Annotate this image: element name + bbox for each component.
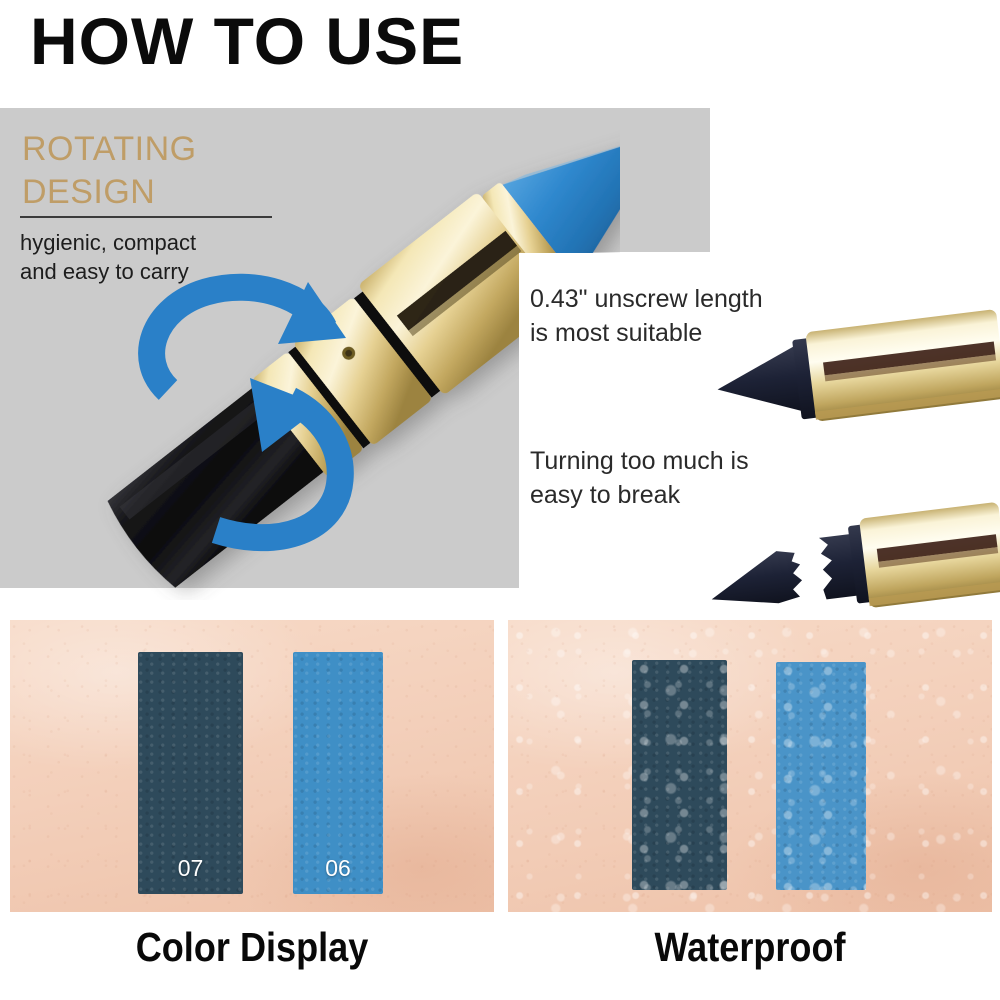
rotating-design-subtext-line1: hygienic, compact xyxy=(20,230,196,255)
swatch-droplets xyxy=(632,660,727,890)
intact-pencil-icon xyxy=(700,300,1000,435)
broken-tip-fragment xyxy=(707,548,805,611)
hero-panel-background-bottom xyxy=(0,251,519,588)
page-title: HOW TO USE xyxy=(30,8,464,74)
infographic-page: HOW TO USE ROTATING DESIGN hygienic, com… xyxy=(0,0,1000,1000)
pencil-navy-tip xyxy=(713,346,802,422)
rotating-design-subtext-line2: and easy to carry xyxy=(20,257,196,286)
swatch-code-07: 07 xyxy=(138,855,243,882)
swatch-droplets xyxy=(776,662,866,890)
swatch-code-06: 06 xyxy=(293,855,383,882)
caption-color-display: Color Display xyxy=(39,924,465,971)
broken-pencil-icon xyxy=(700,495,1000,625)
swatch-06: 06 xyxy=(293,652,383,894)
waterproof-photo xyxy=(508,620,992,912)
swatch-07: 07 xyxy=(138,652,243,894)
swatch-06-wet xyxy=(776,662,866,890)
color-display-photo: 07 06 xyxy=(10,620,494,912)
rotating-design-subtext: hygienic, compact and easy to carry xyxy=(20,228,196,286)
skin-texture xyxy=(10,620,494,912)
rotating-design-heading-line1: ROTATING xyxy=(22,130,197,168)
heading-divider xyxy=(20,216,272,218)
caption-waterproof: Waterproof xyxy=(537,924,963,971)
rotating-design-heading-line2: DESIGN xyxy=(22,171,197,214)
swatch-07-wet xyxy=(632,660,727,890)
rotating-design-heading: ROTATING DESIGN xyxy=(22,128,197,213)
water-droplets-overlay xyxy=(508,620,992,912)
callout-turning-too-much-line1: Turning too much is xyxy=(530,447,749,475)
